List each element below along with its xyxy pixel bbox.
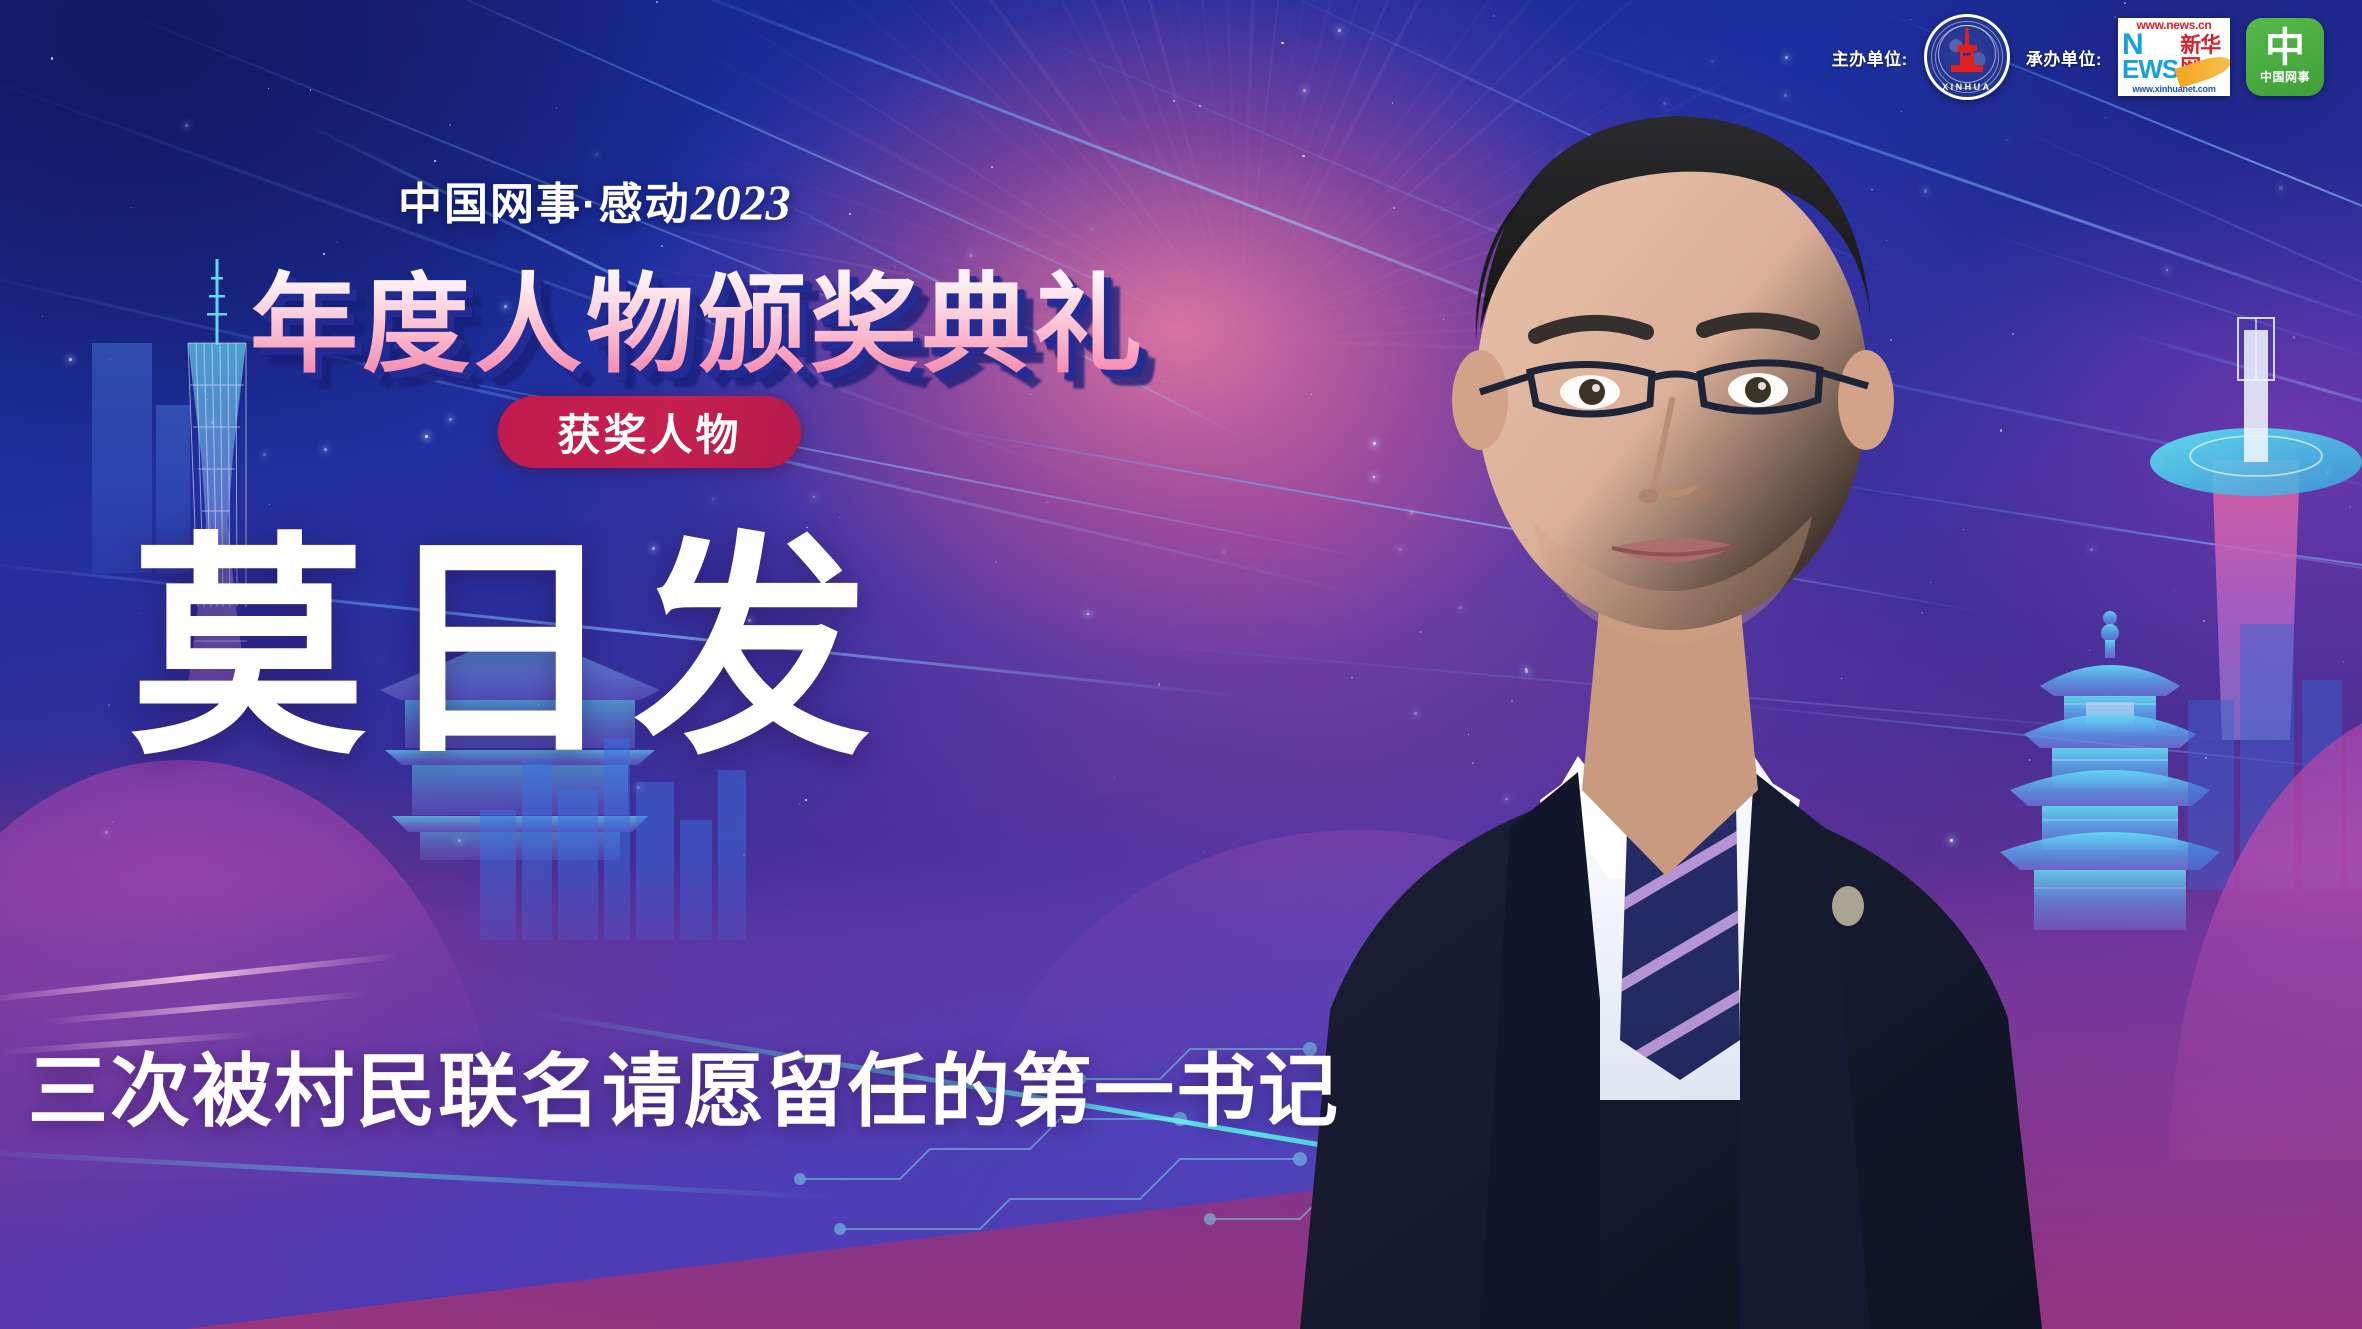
honoree-caption: 三次被村民联名请愿留任的第一书记	[28, 1053, 1340, 1133]
award-badge: 获奖人物	[498, 396, 801, 468]
xinhua-monument-icon	[1947, 27, 1987, 75]
host-label: 承办单位:	[2026, 45, 2102, 70]
news-cn-url-bottom: www.xinhuanet.com	[2118, 84, 2230, 95]
news-cn-mark-ews: EWS	[2122, 57, 2178, 81]
event-title: 年度人物颁奖典礼	[250, 238, 1146, 394]
event-kicker: 中国网事·感动2023	[398, 168, 791, 232]
organizer-label: 主办单位:	[1832, 45, 1908, 70]
credits-bar: 主办单位: XINHUA 承办单位: www.news.cn N EWS	[1832, 14, 2324, 100]
award-poster: 主办单位: XINHUA 承办单位: www.news.cn N EWS	[0, 0, 2362, 1329]
event-year: 2023	[691, 174, 791, 230]
xinhua-seal-logo: XINHUA	[1924, 14, 2010, 100]
award-badge-label: 获奖人物	[558, 401, 742, 463]
xinhua-seal-wordmark: XINHUA	[1927, 82, 2007, 92]
china-net-affairs-caption: 中国网事	[2260, 68, 2310, 85]
event-kicker-text: 中国网事·感动	[398, 180, 691, 229]
news-cn-logo: www.news.cn N EWS 新华网 www.xinhuanet.com	[2118, 18, 2230, 96]
china-net-affairs-glyph: 中	[2265, 29, 2305, 67]
honoree-name: 莫日发	[130, 535, 886, 771]
china-net-affairs-logo: 中 中国网事	[2246, 18, 2324, 96]
